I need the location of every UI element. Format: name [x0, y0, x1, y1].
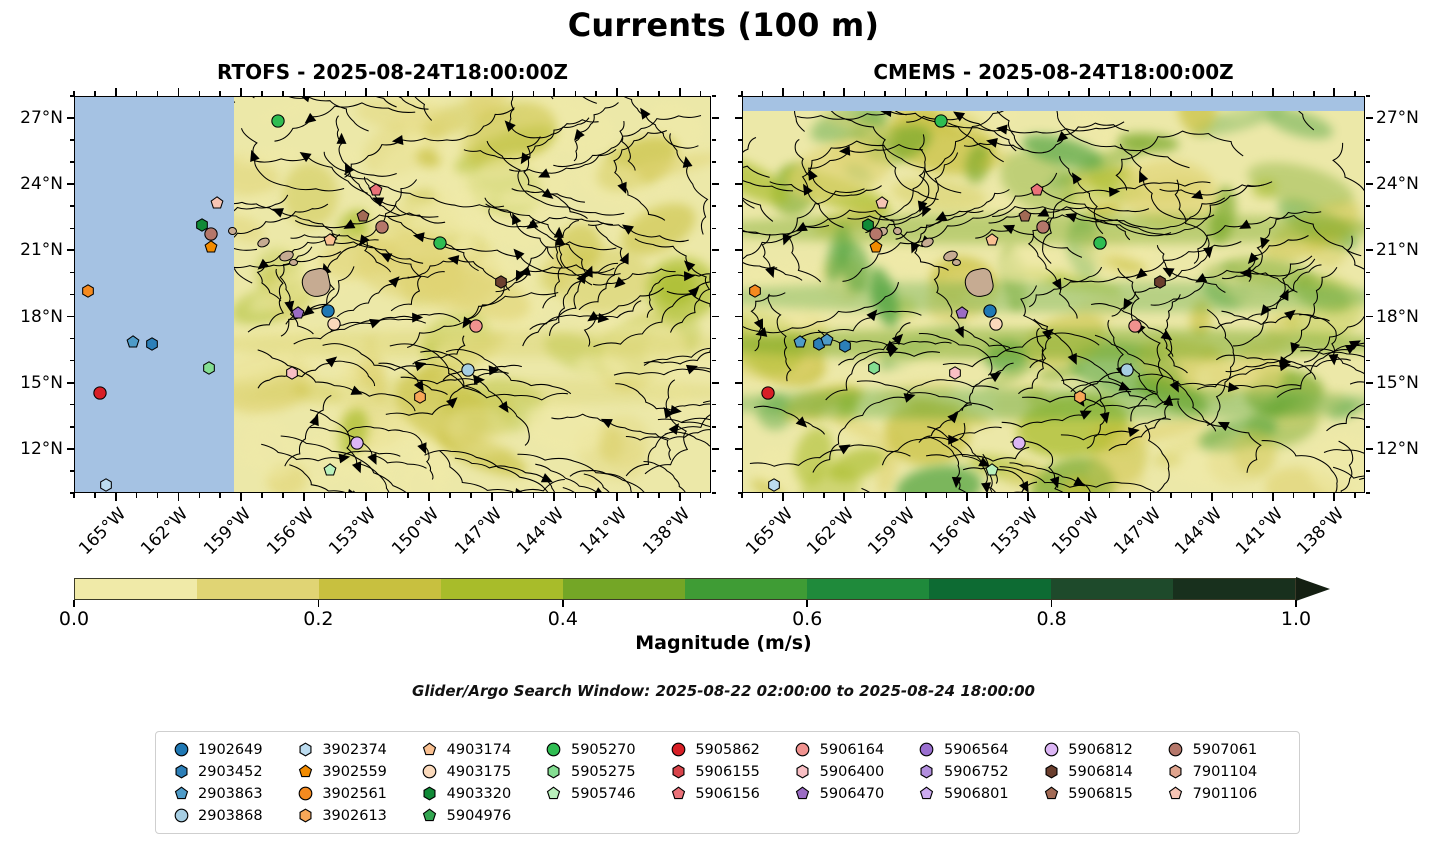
x-minor-tick — [512, 493, 514, 498]
x-tick-label: 138°W — [623, 504, 694, 575]
float-marker-5906812[interactable] — [1011, 436, 1026, 451]
x-minor-tick — [1048, 493, 1050, 498]
float-marker-3902613[interactable] — [1073, 389, 1088, 404]
legend-item[interactable]: 5905746 — [543, 785, 667, 802]
map-panel-cmems[interactable] — [742, 96, 1365, 493]
legend-spacer — [543, 807, 667, 824]
colorbar-band-0 — [75, 579, 197, 599]
pentagon-marker-icon — [1165, 786, 1187, 801]
legend-item[interactable]: 3902374 — [294, 741, 418, 758]
float-marker-5905746[interactable] — [985, 462, 1000, 477]
y-minor-tick — [738, 404, 742, 406]
figure-canvas: Currents (100 m) RTOFS - 2025-08-24T18:0… — [0, 0, 1447, 863]
x-tick-label: 153°W — [310, 504, 381, 575]
x-minor-tick-top — [345, 91, 347, 96]
legend-item[interactable]: 4903320 — [419, 785, 543, 802]
x-minor-tick-top — [658, 91, 660, 96]
colorbar-tick — [318, 600, 320, 607]
x-minor-tick — [864, 493, 866, 498]
x-minor-tick-top — [261, 91, 263, 96]
circle-marker-icon — [294, 786, 316, 801]
colorbar-tick-label: 0.2 — [303, 608, 333, 630]
y-minor-tick — [738, 360, 742, 362]
legend-item-label: 5905746 — [565, 786, 636, 802]
x-minor-tick — [1109, 493, 1111, 498]
x-tick — [843, 493, 845, 501]
x-minor-tick — [1129, 493, 1131, 498]
legend-item[interactable]: 5906815 — [1040, 785, 1164, 802]
float-marker-7901106[interactable] — [210, 195, 225, 210]
x-minor-tick — [925, 493, 927, 498]
x-tick — [1333, 493, 1335, 501]
legend-item[interactable]: 5906164 — [792, 741, 916, 758]
y-minor-tick — [70, 426, 74, 428]
y-tick — [67, 183, 74, 185]
y-tick — [1366, 448, 1373, 450]
float-marker-5906815[interactable] — [356, 209, 371, 224]
legend-item-label: 5906564 — [938, 742, 1009, 758]
x-tick-top — [491, 88, 493, 96]
x-minor-tick-top — [1191, 91, 1193, 96]
y-tick — [67, 117, 74, 119]
y-minor-tick — [70, 470, 74, 472]
y-minor-tick — [712, 360, 716, 362]
pentagon-marker-icon — [1040, 786, 1062, 801]
legend-item-label: 3902613 — [316, 808, 387, 824]
float-marker-5906470[interactable] — [954, 306, 969, 321]
legend-item-label: 5904976 — [441, 808, 512, 824]
hexagon-marker-icon — [1165, 764, 1187, 779]
x-minor-tick-top — [1129, 91, 1131, 96]
colorbar-band-2 — [319, 579, 441, 599]
legend-item[interactable]: 5906752 — [916, 763, 1040, 780]
float-marker-5905275[interactable] — [866, 361, 881, 376]
legend-item[interactable]: 5906564 — [916, 741, 1040, 758]
y-minor-tick — [1366, 426, 1370, 428]
float-marker-5905270[interactable] — [270, 114, 285, 129]
x-minor-tick-top — [1068, 91, 1070, 96]
x-minor-tick-top — [823, 91, 825, 96]
legend-column-1: 3902374390255939025613902613 — [294, 741, 418, 824]
float-marker-2903863[interactable] — [819, 332, 834, 347]
x-minor-tick — [1191, 493, 1193, 498]
x-tick-top — [1211, 88, 1213, 96]
x-minor-tick — [884, 493, 886, 498]
hexagon-marker-icon — [916, 764, 938, 779]
y-tick — [735, 117, 742, 119]
y-minor-tick — [70, 228, 74, 230]
x-tick-top — [240, 88, 242, 96]
x-minor-tick-top — [1048, 91, 1050, 96]
y-minor-tick — [738, 161, 742, 163]
float-marker-4903175[interactable] — [326, 317, 341, 332]
legend-item-label: 5906164 — [814, 742, 885, 758]
float-marker-4903174[interactable] — [322, 233, 337, 248]
y-minor-tick — [712, 426, 716, 428]
float-marker-5906815[interactable] — [1017, 209, 1032, 224]
float-marker-5906814[interactable] — [494, 275, 509, 290]
x-tick-label: 150°W — [372, 504, 443, 575]
y-minor-tick — [712, 139, 716, 141]
float-marker-4903175[interactable] — [989, 317, 1004, 332]
float-marker-3902561[interactable] — [80, 284, 95, 299]
y-minor-tick — [738, 426, 742, 428]
legend-item[interactable]: 5906156 — [667, 785, 791, 802]
y-tick-label: 21°N — [1376, 240, 1419, 260]
x-minor-tick-top — [219, 91, 221, 96]
x-tick — [1150, 493, 1152, 501]
x-minor-tick — [1170, 493, 1172, 498]
x-minor-tick-top — [762, 91, 764, 96]
x-minor-tick-top — [533, 91, 535, 96]
x-minor-tick-top — [512, 91, 514, 96]
float-marker-2903452[interactable] — [145, 337, 160, 352]
y-minor-tick — [738, 228, 742, 230]
x-minor-tick-top — [1007, 91, 1009, 96]
x-minor-tick — [533, 493, 535, 498]
colorbar-band-4 — [563, 579, 685, 599]
x-tick — [966, 493, 968, 501]
x-tick — [178, 493, 180, 501]
legend-item[interactable]: 4903175 — [419, 763, 543, 780]
legend-item[interactable]: 3902559 — [294, 763, 418, 780]
legend-item[interactable]: 3902613 — [294, 807, 418, 824]
float-marker-5905862[interactable] — [760, 385, 775, 400]
legend-item[interactable]: 5905275 — [543, 763, 667, 780]
x-tick-top — [115, 88, 117, 96]
colorbar: 0.00.20.40.60.81.0 — [74, 578, 1365, 600]
y-tick-label: 15°N — [1376, 373, 1419, 393]
x-minor-tick — [282, 493, 284, 498]
float-marker-5905862[interactable] — [93, 385, 108, 400]
x-minor-tick — [595, 493, 597, 498]
y-tick — [712, 117, 719, 119]
x-minor-tick-top — [1170, 91, 1172, 96]
legend-item[interactable]: 1902649 — [170, 741, 294, 758]
x-minor-tick-top — [136, 91, 138, 96]
colorbar-tick-label: 0.4 — [548, 608, 578, 630]
figure-title: Currents (100 m) — [0, 6, 1447, 44]
x-minor-tick — [470, 493, 472, 498]
colorbar-band-9 — [1173, 579, 1295, 599]
legend-item-label: 5906815 — [1062, 786, 1133, 802]
x-tick-label: 159°W — [849, 504, 920, 575]
float-marker-3902559[interactable] — [203, 239, 218, 254]
legend-item-label: 5905862 — [689, 742, 760, 758]
legend-item[interactable]: 3902561 — [294, 785, 418, 802]
float-marker-5905746[interactable] — [322, 462, 337, 477]
float-marker-5906156[interactable] — [368, 182, 383, 197]
y-tick-label: 12°N — [0, 439, 63, 459]
y-minor-tick — [738, 139, 742, 141]
float-marker-2903863[interactable] — [126, 334, 141, 349]
panel-title-cmems: CMEMS - 2025-08-24T18:00:00Z — [742, 60, 1365, 84]
y-minor-tick — [70, 161, 74, 163]
legend-item[interactable]: 5906470 — [792, 785, 916, 802]
y-tick — [712, 316, 719, 318]
float-marker-4903174[interactable] — [985, 233, 1000, 248]
x-tick-label: 144°W — [1155, 504, 1226, 575]
y-tick — [1366, 249, 1373, 251]
legend-item-label: 3902374 — [316, 742, 387, 758]
x-tick-label: 141°W — [560, 504, 631, 575]
float-marker-5907061[interactable] — [375, 220, 390, 235]
legend-spacer — [1040, 807, 1164, 824]
colorbar-tick — [562, 600, 564, 607]
pentagon-marker-icon — [294, 764, 316, 779]
x-minor-tick — [803, 493, 805, 498]
y-tick — [67, 382, 74, 384]
colorbar-band-6 — [807, 579, 929, 599]
x-tick-label: 156°W — [247, 504, 318, 575]
float-marker-5905275[interactable] — [201, 361, 216, 376]
x-minor-tick-top — [1354, 91, 1356, 96]
float-marker-5905270[interactable] — [934, 114, 949, 129]
x-minor-tick — [658, 493, 660, 498]
circle-marker-icon — [667, 742, 689, 757]
current-magnitude-field — [742, 97, 1364, 492]
legend-spacer — [792, 807, 916, 824]
float-marker-5906812[interactable] — [349, 436, 364, 451]
y-tick-label: 21°N — [0, 240, 63, 260]
x-minor-tick — [94, 493, 96, 498]
legend-item[interactable]: 7901104 — [1165, 763, 1289, 780]
legend-item[interactable]: 5904976 — [419, 807, 543, 824]
pentagon-marker-icon — [543, 786, 565, 801]
float-marker-5906400[interactable] — [285, 365, 300, 380]
float-marker-7901106[interactable] — [874, 195, 889, 210]
float-marker-5907061[interactable] — [1036, 220, 1051, 235]
y-minor-tick — [738, 470, 742, 472]
pentagon-marker-icon — [916, 786, 938, 801]
legend-item[interactable]: 7901106 — [1165, 785, 1289, 802]
float-marker-2903868[interactable] — [460, 363, 475, 378]
y-tick — [735, 382, 742, 384]
island-polygon — [289, 259, 298, 266]
x-tick-top — [428, 88, 430, 96]
float-marker-3902374[interactable] — [99, 478, 114, 493]
x-minor-tick — [1007, 493, 1009, 498]
y-minor-tick — [738, 272, 742, 274]
x-tick-label: 159°W — [185, 504, 256, 575]
legend-item-label: 5906801 — [938, 786, 1009, 802]
x-tick-label: 162°W — [122, 504, 193, 575]
hexagon-marker-icon — [294, 808, 316, 823]
legend-item[interactable]: 5906400 — [792, 763, 916, 780]
legend-item-label: 4903320 — [441, 786, 512, 802]
y-tick — [67, 249, 74, 251]
x-minor-tick — [823, 493, 825, 498]
colorbar-tick-label: 0.0 — [59, 608, 89, 630]
x-minor-tick — [1354, 493, 1356, 498]
y-minor-tick — [712, 228, 716, 230]
x-minor-tick-top — [595, 91, 597, 96]
x-tick-top — [679, 88, 681, 96]
y-minor-tick — [712, 95, 716, 97]
x-tick — [1027, 493, 1029, 501]
y-minor-tick — [712, 404, 716, 406]
legend-item-label: 2903452 — [192, 764, 263, 780]
x-tick-top — [303, 88, 305, 96]
float-legend: 1902649290345229038632903868390237439025… — [155, 731, 1300, 834]
x-minor-tick — [449, 493, 451, 498]
x-minor-tick-top — [700, 91, 702, 96]
legend-item-label: 5907061 — [1187, 742, 1258, 758]
x-minor-tick-top — [1109, 91, 1111, 96]
colorbar-tick-label: 0.8 — [1036, 608, 1066, 630]
float-marker-5906400[interactable] — [948, 365, 963, 380]
colorbar-band-8 — [1051, 579, 1173, 599]
y-minor-tick — [712, 161, 716, 163]
colorbar-tick-label: 0.6 — [792, 608, 822, 630]
y-tick — [735, 316, 742, 318]
x-tick — [365, 493, 367, 501]
legend-item-label: 5906812 — [1062, 742, 1133, 758]
x-tick — [782, 493, 784, 501]
legend-item[interactable]: 5906155 — [667, 763, 791, 780]
panel-title-rtofs: RTOFS - 2025-08-24T18:00:00Z — [74, 60, 711, 84]
y-minor-tick — [1366, 161, 1370, 163]
legend-item[interactable]: 2903452 — [170, 763, 294, 780]
colorbar-band-5 — [685, 579, 807, 599]
colorbar-band-7 — [929, 579, 1051, 599]
x-minor-tick — [1252, 493, 1254, 498]
hexagon-marker-icon — [792, 764, 814, 779]
legend-item-label: 5906400 — [814, 764, 885, 780]
y-tick-label: 27°N — [0, 108, 63, 128]
x-tick-label: 156°W — [910, 504, 981, 575]
x-tick-top — [1150, 88, 1152, 96]
y-minor-tick — [70, 360, 74, 362]
float-marker-5905270[interactable] — [433, 235, 448, 250]
x-minor-tick-top — [94, 91, 96, 96]
colorbar-tick-label: 1.0 — [1281, 608, 1311, 630]
legend-item-label: 1902649 — [192, 742, 263, 758]
x-minor-tick — [324, 493, 326, 498]
x-minor-tick-top — [946, 91, 948, 96]
float-marker-3902374[interactable] — [766, 478, 781, 493]
legend-column-6: 590656459067525906801 — [916, 741, 1040, 824]
map-panel-rtofs[interactable] — [74, 96, 711, 493]
float-marker-2903868[interactable] — [1120, 363, 1135, 378]
x-tick-top — [1333, 88, 1335, 96]
hexagon-marker-icon — [294, 742, 316, 757]
legend-item[interactable]: 5906814 — [1040, 763, 1164, 780]
x-minor-tick-top — [199, 91, 201, 96]
y-minor-tick — [712, 470, 716, 472]
y-minor-tick — [70, 294, 74, 296]
x-minor-tick-top — [157, 91, 159, 96]
x-minor-tick — [345, 493, 347, 498]
y-minor-tick — [1366, 228, 1370, 230]
y-minor-tick — [70, 338, 74, 340]
float-marker-2903452[interactable] — [838, 339, 853, 354]
legend-item[interactable]: 2903863 — [170, 785, 294, 802]
float-marker-2903863[interactable] — [793, 334, 808, 349]
legend-item[interactable]: 2903868 — [170, 807, 294, 824]
x-minor-tick — [387, 493, 389, 498]
x-minor-tick-top — [1313, 91, 1315, 96]
x-minor-tick — [157, 493, 159, 498]
colorbar-band-3 — [441, 579, 563, 599]
float-marker-5906156[interactable] — [1030, 182, 1045, 197]
legend-item[interactable]: 5907061 — [1165, 741, 1289, 758]
x-minor-tick — [741, 493, 743, 498]
x-minor-tick — [1313, 493, 1315, 498]
colorbar-gradient — [74, 578, 1296, 600]
y-minor-tick — [1366, 360, 1370, 362]
x-tick — [1272, 493, 1274, 501]
float-marker-5906470[interactable] — [291, 306, 306, 321]
float-marker-3902561[interactable] — [748, 284, 763, 299]
y-minor-tick — [70, 139, 74, 141]
y-minor-tick — [1366, 95, 1370, 97]
float-marker-5905270[interactable] — [1093, 235, 1108, 250]
legend-item[interactable]: 5906801 — [916, 785, 1040, 802]
x-minor-tick-top — [282, 91, 284, 96]
legend-item[interactable]: 5905862 — [667, 741, 791, 758]
colorbar-label: Magnitude (m/s) — [0, 632, 1447, 654]
y-tick — [735, 249, 742, 251]
streamline-overlay — [742, 97, 1364, 492]
x-minor-tick-top — [884, 91, 886, 96]
legend-column-7: 590681259068145906815 — [1040, 741, 1164, 824]
float-marker-5906814[interactable] — [1152, 275, 1167, 290]
circle-marker-icon — [170, 742, 192, 757]
colorbar-tick — [1295, 600, 1297, 607]
pentagon-marker-icon — [667, 786, 689, 801]
y-minor-tick — [1366, 272, 1370, 274]
legend-column-5: 590616459064005906470 — [792, 741, 916, 824]
circle-marker-icon — [419, 764, 441, 779]
float-marker-5906164[interactable] — [468, 319, 483, 334]
x-tick-label: 162°W — [788, 504, 859, 575]
legend-item-label: 5906156 — [689, 786, 760, 802]
circle-marker-icon — [792, 742, 814, 757]
colorbar-band-1 — [197, 579, 319, 599]
float-marker-3902559[interactable] — [868, 239, 883, 254]
x-minor-tick — [1232, 493, 1234, 498]
island-polygon — [952, 259, 961, 266]
y-tick — [735, 448, 742, 450]
x-minor-tick — [986, 493, 988, 498]
float-marker-5906164[interactable] — [1128, 319, 1143, 334]
x-tick — [303, 493, 305, 501]
legend-item-label: 3902561 — [316, 786, 387, 802]
x-minor-tick — [199, 493, 201, 498]
x-minor-tick — [946, 493, 948, 498]
circle-marker-icon — [916, 742, 938, 757]
x-minor-tick-top — [741, 91, 743, 96]
y-minor-tick — [70, 404, 74, 406]
y-minor-tick — [1366, 294, 1370, 296]
domain-edge-strip — [743, 97, 1364, 111]
y-minor-tick — [70, 205, 74, 207]
x-tick — [491, 493, 493, 501]
legend-item[interactable]: 5906812 — [1040, 741, 1164, 758]
legend-item[interactable]: 5905270 — [543, 741, 667, 758]
legend-item[interactable]: 4903174 — [419, 741, 543, 758]
y-tick — [67, 448, 74, 450]
y-minor-tick — [70, 272, 74, 274]
pentagon-marker-icon — [419, 808, 441, 823]
legend-item-label: 3902559 — [316, 764, 387, 780]
x-tick — [905, 493, 907, 501]
legend-item-label: 2903863 — [192, 786, 263, 802]
y-minor-tick — [712, 272, 716, 274]
colorbar-tick — [1051, 600, 1053, 607]
float-marker-3902613[interactable] — [412, 389, 427, 404]
